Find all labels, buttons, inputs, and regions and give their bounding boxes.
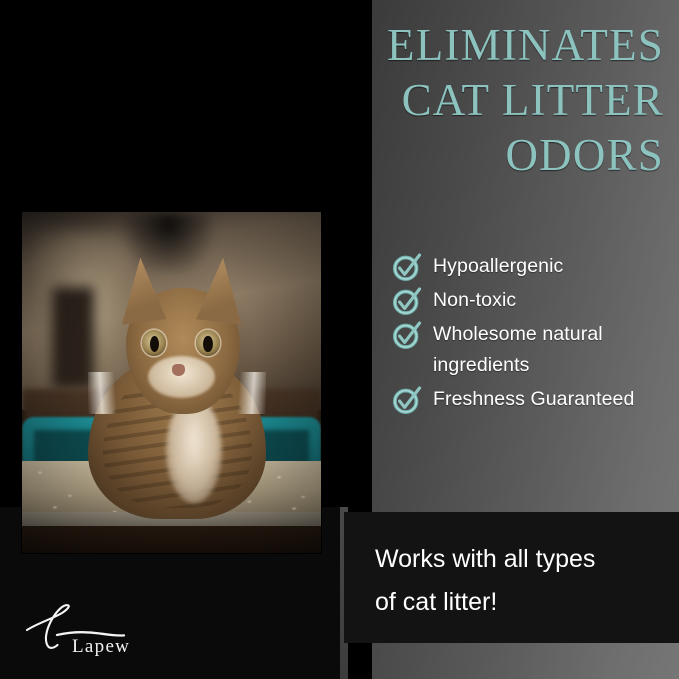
check-circle-icon: [392, 252, 422, 282]
brand-name: Lapew: [72, 636, 130, 658]
photo-vignette: [22, 212, 321, 553]
list-item-label: Freshness Guaranteed: [433, 384, 634, 415]
feature-list: Hypoallergenic Non-toxic Wholesome n: [392, 251, 670, 418]
brand-logo: Lapew: [24, 602, 154, 664]
headline: ELIMINATES CAT LITTER ODORS: [300, 18, 664, 183]
list-item: Wholesome natural ingredients: [392, 319, 670, 381]
list-item: Non-toxic: [392, 285, 670, 316]
callout-box: Works with all types of cat litter!: [344, 512, 679, 643]
list-item-label: Hypoallergenic: [433, 251, 563, 282]
product-feature-poster: ELIMINATES CAT LITTER ODORS: [0, 0, 679, 679]
headline-line-3: ODORS: [300, 128, 664, 183]
list-item: Hypoallergenic: [392, 251, 670, 282]
headline-line-1: ELIMINATES: [300, 18, 664, 73]
list-item-label: Wholesome natural ingredients: [433, 319, 670, 381]
check-circle-icon: [392, 320, 422, 350]
callout-text: Works with all types of cat litter!: [375, 538, 665, 624]
list-item: Freshness Guaranteed: [392, 384, 670, 415]
callout-line-1: Works with all types: [375, 538, 665, 581]
list-item-label: Non-toxic: [433, 285, 516, 316]
check-circle-icon: [392, 385, 422, 415]
check-circle-icon: [392, 286, 422, 316]
headline-line-2: CAT LITTER: [300, 73, 664, 128]
callout-line-2: of cat litter!: [375, 581, 665, 624]
kitten-litter-box-photo: [22, 212, 321, 553]
